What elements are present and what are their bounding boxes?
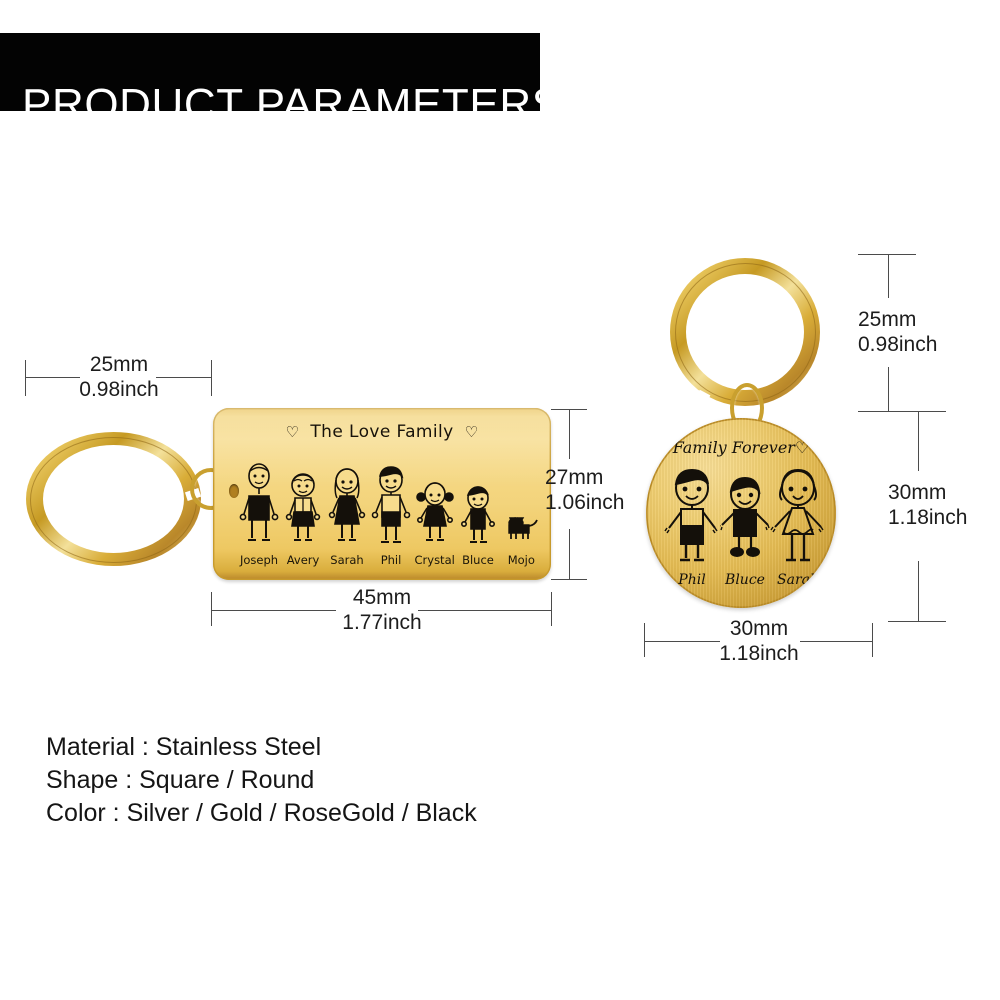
father-figure-icon — [664, 466, 720, 566]
figure-name: Phil — [381, 553, 402, 567]
cat-figure-icon — [501, 512, 541, 544]
round-tag-width-mm: 30mm — [645, 616, 873, 641]
boy-figure-icon — [720, 474, 770, 560]
figure-name: Crystal — [415, 553, 455, 567]
spec-shape: Shape : Square / Round — [46, 764, 746, 797]
round-ring-height-mm: 25mm — [858, 307, 978, 332]
square-tag-title-row: ♡The Love Family♡ — [213, 422, 551, 442]
figure-sarah: Sarah — [325, 456, 369, 548]
round-ring-height-inch: 0.98inch — [858, 332, 978, 357]
mother-figure-icon — [770, 466, 826, 566]
square-tag-height-mm: 27mm — [545, 465, 655, 490]
dim-tick-bottom — [888, 621, 946, 622]
figure-avery: Avery — [281, 456, 325, 548]
dim-line-bottom — [569, 529, 570, 579]
mother-figure-icon — [325, 466, 369, 548]
spec-material: Material : Stainless Steel — [46, 731, 746, 764]
dim-line-bottom — [918, 561, 919, 621]
figure-phil: Phil — [369, 456, 413, 548]
specifications-list: Material : Stainless Steel Shape : Squar… — [46, 731, 746, 830]
dim-line-top — [569, 409, 570, 459]
round-tag-title: Family Forever♡ — [646, 438, 836, 457]
grandmother-figure-icon — [281, 470, 325, 548]
figure-mojo: Mojo — [500, 456, 543, 548]
square-tag: ♡The Love Family♡ — [213, 408, 551, 580]
ring-highlight — [30, 437, 197, 563]
square-tag-width-mm: 45mm — [212, 585, 552, 610]
round-tag-height-mm: 30mm — [888, 480, 1000, 505]
square-family-figures: Joseph — [237, 456, 543, 548]
square-ring-width-inch: 0.98inch — [26, 377, 212, 402]
dim-line-bottom — [888, 367, 889, 412]
figure-name: Mojo — [508, 553, 535, 567]
dim-line-top — [918, 411, 919, 471]
figure-name: Bluce — [462, 553, 494, 567]
figure-bluce: Bluce — [456, 456, 499, 548]
figure-phil-round: Phil — [664, 466, 720, 566]
heart-icon-left: ♡ — [286, 423, 300, 441]
boy-figure-icon — [458, 484, 498, 548]
page-title: PRODUCT PARAMETERS — [22, 73, 562, 137]
heart-icon-right: ♡ — [465, 423, 479, 441]
product-parameters-page: PRODUCT PARAMETERS 25mm 0.98inch ♡The Lo… — [0, 0, 1000, 1000]
spec-color: Color : Silver / Gold / RoseGold / Black — [46, 797, 746, 830]
round-tag: Family Forever♡ — [646, 418, 836, 608]
figure-name: Phil — [678, 572, 705, 588]
round-tag-height-inch: 1.18inch — [888, 505, 1000, 530]
round-tag-width-inch: 1.18inch — [645, 641, 873, 666]
figure-bluce-round: Bluce — [720, 474, 770, 566]
header-banner: PRODUCT PARAMETERS — [0, 33, 540, 111]
square-tag-width-inch: 1.77inch — [212, 610, 552, 635]
ring-highlight — [675, 263, 816, 402]
dim-tick-top — [888, 411, 946, 412]
dim-tick-bottom — [551, 579, 587, 580]
girl-figure-icon — [414, 480, 456, 548]
square-tag-title: The Love Family — [310, 422, 453, 442]
figure-crystal: Crystal — [413, 456, 456, 548]
figure-sarah-round: Sarah — [770, 466, 826, 566]
figure-name: Sarah — [330, 553, 363, 567]
figure-name: Avery — [287, 553, 320, 567]
dim-tick-top — [858, 254, 916, 255]
square-tag-height-inch: 1.06inch — [545, 490, 655, 515]
father-figure-icon — [369, 464, 413, 548]
figure-name: Sarah — [777, 572, 819, 588]
figure-joseph: Joseph — [237, 456, 281, 548]
dim-line-top — [888, 254, 889, 298]
grandfather-figure-icon — [237, 462, 281, 548]
square-ring-width-mm: 25mm — [26, 352, 212, 377]
figure-name: Bluce — [725, 572, 765, 588]
figure-name: Joseph — [240, 553, 278, 567]
round-family-figures: Phil — [664, 462, 818, 566]
